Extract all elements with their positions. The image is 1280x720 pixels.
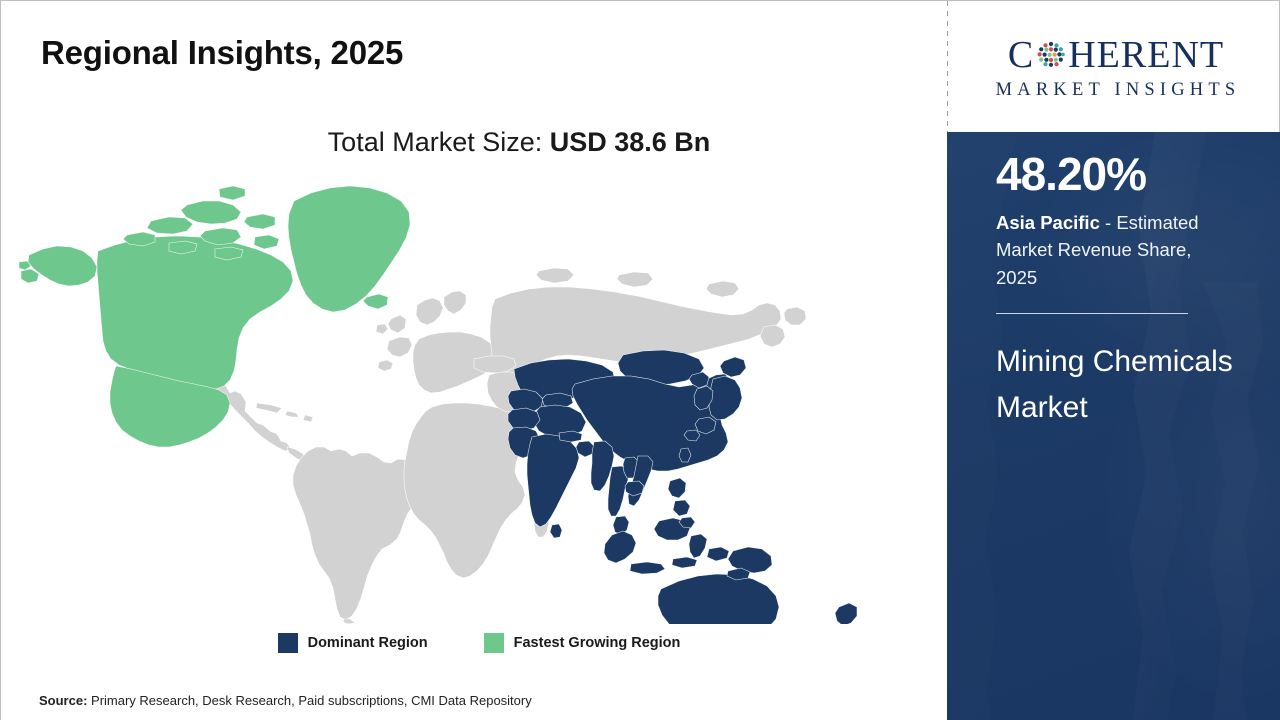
regional-insights-infographic: Regional Insights, 2025 Total Market Siz… (0, 0, 1280, 720)
legend-swatch-fastest-growing-icon (484, 633, 504, 653)
world-map-container (19, 179, 929, 624)
total-market-size-label: Total Market Size: (328, 127, 550, 157)
legend-label-fastest-growing: Fastest Growing Region (514, 635, 681, 651)
map-region-asia-pacific (508, 350, 857, 624)
total-market-size: Total Market Size: USD 38.6 Bn (1, 127, 947, 158)
world-map (19, 179, 929, 624)
market-name: Mining Chemicals Market (996, 339, 1246, 430)
logo-letters-herent: HERENT (1068, 36, 1224, 74)
vertical-dashed-divider (947, 1, 948, 132)
logo-wordmark-row: C (1008, 36, 1224, 74)
market-share-description: Asia Pacific - Estimated Market Revenue … (996, 209, 1232, 291)
page-title: Regional Insights, 2025 (41, 34, 403, 72)
logo-subtitle: MARKET INSIGHTS (992, 80, 1241, 101)
legend-item-dominant: Dominant Region (278, 633, 428, 653)
brand-logo: C (953, 4, 1279, 132)
panel-divider-rule (996, 313, 1188, 314)
market-share-percent: 48.20% (996, 148, 1246, 201)
logo-letter-c: C (1008, 36, 1034, 74)
source-text: Primary Research, Desk Research, Paid su… (87, 693, 531, 708)
panel-content: 48.20% Asia Pacific - Estimated Market R… (996, 148, 1246, 430)
source-label: Source: (39, 693, 87, 708)
total-market-size-value: USD 38.6 Bn (550, 127, 711, 157)
legend-item-fastest-growing: Fastest Growing Region (484, 633, 681, 653)
globe-dots-icon (1036, 40, 1066, 70)
left-content-pane: Regional Insights, 2025 Total Market Siz… (1, 1, 947, 720)
legend-label-dominant: Dominant Region (308, 635, 428, 651)
region-name: Asia Pacific (996, 212, 1100, 233)
map-legend: Dominant Region Fastest Growing Region (1, 633, 947, 653)
map-region-north-america (19, 186, 410, 447)
legend-swatch-dominant-icon (278, 633, 298, 653)
source-note: Source: Primary Research, Desk Research,… (39, 693, 532, 708)
stat-info-panel: 48.20% Asia Pacific - Estimated Market R… (947, 132, 1280, 720)
